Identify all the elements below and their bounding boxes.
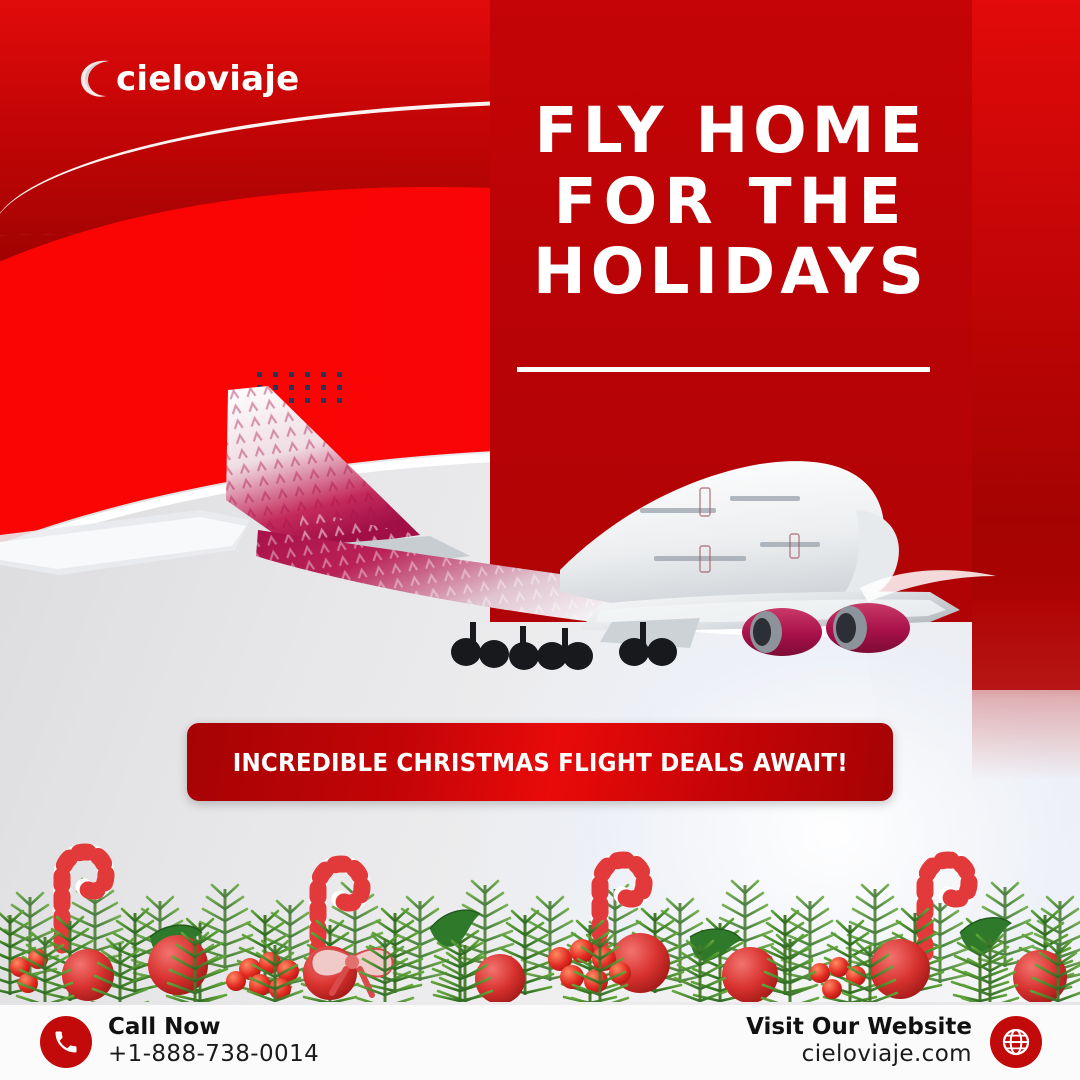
promo-banner[interactable]: INCREDIBLE CHRISTMAS FLIGHT DEALS AWAIT! xyxy=(187,723,893,801)
website-block[interactable]: Visit Our Website cieloviaje.com xyxy=(746,1014,1042,1069)
globe-icon xyxy=(990,1016,1042,1068)
brand-logo[interactable]: cieloviaje xyxy=(78,58,299,100)
headline-line-3: HOLIDAYS xyxy=(510,237,952,308)
page-title: FLY HOME FOR THE HOLIDAYS xyxy=(510,96,952,308)
website-url[interactable]: cieloviaje.com xyxy=(802,1040,972,1069)
headline-line-2: FOR THE xyxy=(510,167,952,238)
promotional-poster: cieloviaje FLY HOME FOR THE HOLIDAYS xyxy=(0,0,1080,1080)
brand-name: cieloviaje xyxy=(116,62,299,96)
crescent-c-icon xyxy=(78,58,112,100)
call-now-block[interactable]: Call Now +1-888-738-0014 xyxy=(40,1014,319,1069)
promo-banner-text: INCREDIBLE CHRISTMAS FLIGHT DEALS AWAIT! xyxy=(232,748,847,777)
christmas-garland-border xyxy=(0,797,1080,1002)
boeing-747-airplane xyxy=(0,360,1000,690)
footer-divider xyxy=(0,1002,1080,1005)
call-now-label: Call Now xyxy=(108,1014,319,1040)
headline-line-1: FLY HOME xyxy=(510,96,952,167)
phone-icon xyxy=(40,1016,92,1068)
footer-bar: Call Now +1-888-738-0014 BOOK NOW Visit … xyxy=(0,1002,1080,1080)
phone-number[interactable]: +1-888-738-0014 xyxy=(108,1040,319,1069)
visit-website-label: Visit Our Website xyxy=(746,1014,972,1040)
